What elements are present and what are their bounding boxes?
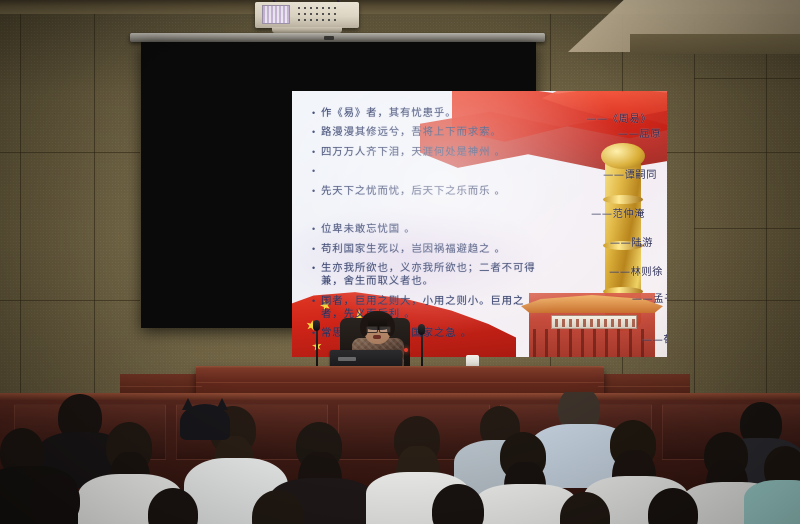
wall-seam	[0, 300, 140, 301]
speaker-mouth	[373, 335, 381, 339]
audience-cap-ear	[216, 398, 228, 410]
speaker-eyeglasses	[366, 326, 378, 333]
projector-ports	[296, 5, 340, 22]
microphone-indicator-light	[404, 348, 408, 352]
wall-seam	[0, 152, 140, 153]
attribution: ——林则徐	[515, 266, 663, 279]
slide-bullet: •路漫漫其修远兮，吾将上下而求索。	[312, 126, 544, 139]
slide-bullet: •作《易》者，其有忧患乎。	[312, 107, 544, 120]
slide-bullet: •生亦我所欲也，义亦我所欲也；二者不可得兼，舍生而取义者也。	[312, 262, 544, 288]
bullet-marker: •	[312, 295, 321, 308]
lecture-hall-photo: •作《易》者，其有忧患乎。 •路漫漫其修远兮，吾将上下而求索。 •四万万人齐下泪…	[0, 0, 800, 524]
bullet-marker: •	[312, 107, 321, 120]
slide-bullet: •国者，巨用之则大，小用之则小。巨用之者，先义而后利 。	[312, 295, 544, 321]
attribution: ——《周易》	[515, 113, 651, 126]
bullet-marker: •	[312, 146, 321, 159]
bullet-marker: •	[312, 262, 321, 275]
bullet-marker: •	[312, 223, 321, 236]
speaker-eyeglasses	[379, 326, 391, 333]
slide-bullet-spacer	[312, 204, 544, 217]
projection-screen-housing	[130, 33, 545, 42]
wall-seam	[766, 40, 767, 394]
bullet-text: 苟利国家生死以，岂因祸福避趋之 。	[321, 243, 506, 256]
slide-bullet: •先天下之忧而忧，后天下之乐而乐 。	[312, 185, 544, 198]
slide-bullet: •位卑未敢忘忧国 。	[312, 223, 544, 236]
bullet-marker: •	[312, 126, 321, 139]
microphone-head	[418, 324, 425, 335]
slide-bullet-empty: •	[312, 165, 544, 178]
bullet-text: 位卑未敢忘忧国 。	[321, 223, 416, 236]
attribution: ——屈原	[515, 128, 661, 141]
screen-housing-latch	[324, 36, 334, 40]
microphone-stem	[316, 326, 318, 368]
audience-cap-ear	[182, 398, 194, 410]
bullet-text: 国者，巨用之则大，小用之则小。巨用之者，先义而后利 。	[321, 295, 544, 321]
slide-bullet-list: •作《易》者，其有忧患乎。 •路漫漫其修远兮，吾将上下而求索。 •四万万人齐下泪…	[312, 107, 544, 346]
projector-vent	[262, 5, 290, 24]
bullet-text: 路漫漫其修远兮，吾将上下而求索。	[321, 126, 502, 139]
audience-body	[744, 480, 800, 524]
attribution: ——陆游	[515, 237, 653, 250]
bullet-text: 四万万人齐下泪，天涯何处是神州 。	[321, 146, 506, 159]
desk-trim	[120, 386, 202, 387]
attribution: ——谭嗣同	[515, 169, 657, 182]
attribution: ——范仲淹	[515, 208, 645, 221]
wall-seam	[20, 14, 21, 394]
audience-head	[30, 474, 80, 524]
bullet-text: 作《易》者，其有忧患乎。	[321, 107, 457, 120]
desk-trim	[598, 386, 690, 387]
bullet-marker: •	[312, 185, 321, 198]
slide-attribution-list: ——《周易》 ——屈原 ——谭嗣同 ——范仲淹 ——陆游 ——林则徐 ——孟子 …	[515, 109, 651, 347]
attribution: ——孟子	[515, 293, 667, 306]
wall-seam	[94, 14, 95, 394]
bullet-text: 先天下之忧而忧，后天下之乐而乐 。	[321, 185, 506, 198]
desk-trim	[196, 382, 604, 383]
projection-screen-frame: •作《易》者，其有忧患乎。 •路漫漫其修远兮，吾将上下而求索。 •四万万人齐下泪…	[141, 42, 536, 328]
slide-bullet: •苟利国家生死以，岂因祸福避趋之 。	[312, 243, 544, 256]
slide-bullet: •四万万人齐下泪，天涯何处是神州 。	[312, 146, 544, 159]
attribution: ——荀子	[515, 334, 667, 347]
wall-seam	[694, 20, 695, 394]
wall-seam	[694, 78, 800, 79]
wall-seam	[694, 228, 800, 229]
bullet-marker: •	[312, 243, 321, 256]
microphone-head	[313, 320, 320, 331]
bullet-text: 生亦我所欲也，义亦我所欲也；二者不可得兼，舍生而取义者也。	[321, 262, 544, 288]
bullet-marker: •	[312, 165, 321, 178]
microphone-stem	[421, 330, 423, 368]
laptop-logo	[338, 357, 356, 361]
ceiling-soffit-shadow	[630, 34, 800, 54]
audience-area	[0, 392, 800, 524]
